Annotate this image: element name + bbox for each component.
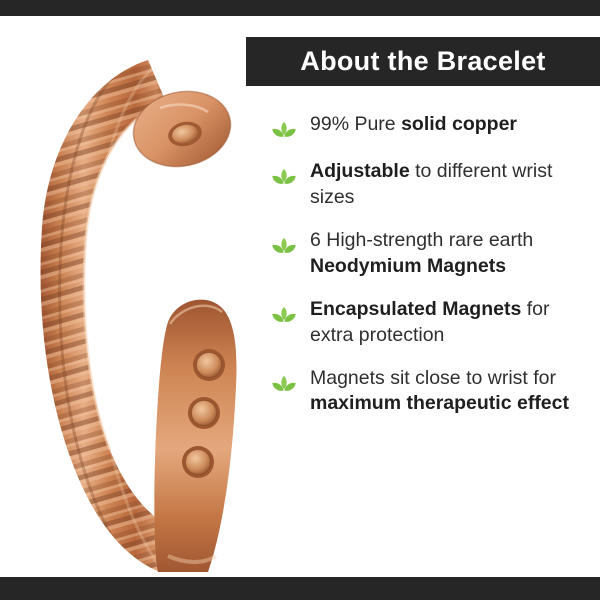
feature-text-part: Magnets sit close to wrist for [310, 367, 556, 389]
magnet-arm-2 [188, 397, 220, 429]
feature-text: Adjustable to different wrist sizes [310, 159, 593, 211]
feature-text: 6 High-strength rare earth Neodymium Mag… [310, 228, 593, 280]
feature-item-close-to-wrist: Magnets sit close to wrist for maximum t… [271, 366, 593, 418]
feature-text-part-bold: Encapsulated Magnets [310, 298, 521, 320]
feature-item-neodymium-magnets: 6 High-strength rare earth Neodymium Mag… [271, 228, 593, 280]
feature-text-part: 6 High-strength rare earth [310, 229, 533, 251]
feature-item-adjustable: Adjustable to different wrist sizes [271, 159, 593, 211]
feature-item-solid-copper: 99% Pure solid copper [271, 112, 593, 142]
bottom-letterbox-bar [0, 577, 600, 600]
title-banner: About the Bracelet [246, 37, 600, 86]
sprout-icon [271, 236, 297, 258]
sprout-icon [271, 120, 297, 142]
sprout-icon [271, 305, 297, 327]
sprout-icon [271, 374, 297, 396]
product-infographic: About the Bracelet 99% Pure solid copper [0, 0, 600, 600]
feature-text-part-bold: solid copper [401, 113, 517, 135]
feature-text-part-bold: maximum therapeutic effect [310, 392, 569, 414]
product-photo [0, 16, 245, 577]
feature-list: 99% Pure solid copper Adjustable to diff… [271, 112, 593, 434]
sprout-icon [271, 167, 297, 189]
feature-item-encapsulated-magnets: Encapsulated Magnets for extra protectio… [271, 297, 593, 349]
feature-text-part: 99% Pure [310, 113, 401, 135]
feature-text: Magnets sit close to wrist for maximum t… [310, 366, 593, 418]
copper-bracelet-illustration [0, 16, 245, 577]
top-letterbox-bar [0, 0, 600, 16]
feature-text-part-bold: Neodymium Magnets [310, 255, 506, 277]
page-title: About the Bracelet [300, 48, 545, 75]
magnet-arm-1 [193, 349, 225, 381]
magnet-arm-3 [182, 446, 214, 478]
feature-text: 99% Pure solid copper [310, 112, 593, 138]
feature-text-part-bold: Adjustable [310, 160, 410, 182]
feature-text: Encapsulated Magnets for extra protectio… [310, 297, 593, 349]
